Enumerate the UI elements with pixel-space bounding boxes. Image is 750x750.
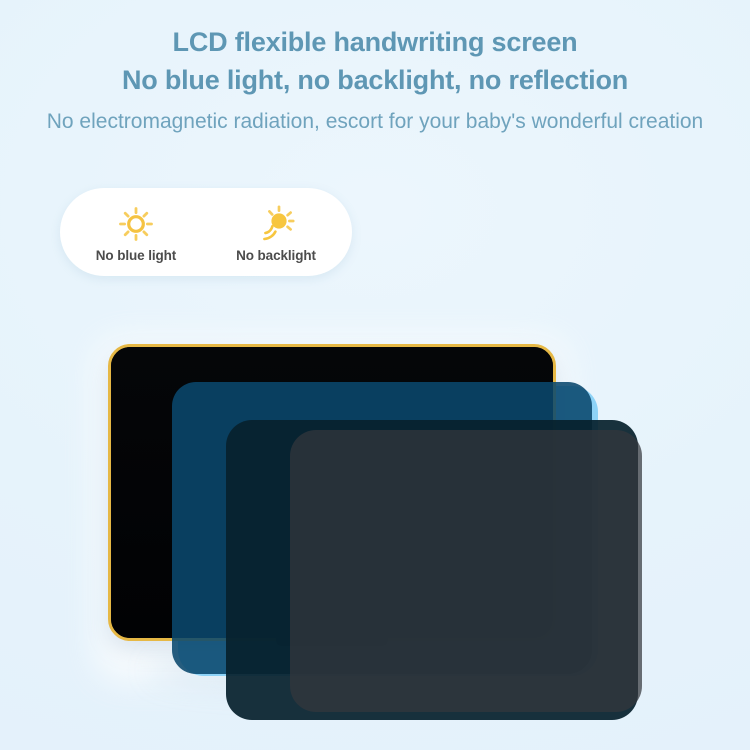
grey-panel [290, 430, 642, 712]
headline-secondary: No blue light, no backlight, no reflecti… [0, 64, 750, 97]
feature-item-no-backlight: No backlight [211, 202, 341, 263]
promo-poster: LCD flexible handwriting screen No blue … [0, 0, 750, 750]
header-text-block: LCD flexible handwriting screen No blue … [0, 0, 750, 136]
sun-filled-waves-icon [256, 202, 296, 246]
headline-primary: LCD flexible handwriting screen [0, 26, 750, 59]
feature-badge-pill: No blue light [60, 188, 352, 276]
feature-label: No backlight [236, 248, 316, 263]
stacked-lcd-screens [0, 300, 750, 750]
subheadline: No electromagnetic radiation, escort for… [45, 108, 705, 136]
feature-item-no-blue-light: No blue light [71, 202, 201, 263]
feature-label: No blue light [96, 248, 176, 263]
sun-outline-icon [116, 202, 156, 246]
